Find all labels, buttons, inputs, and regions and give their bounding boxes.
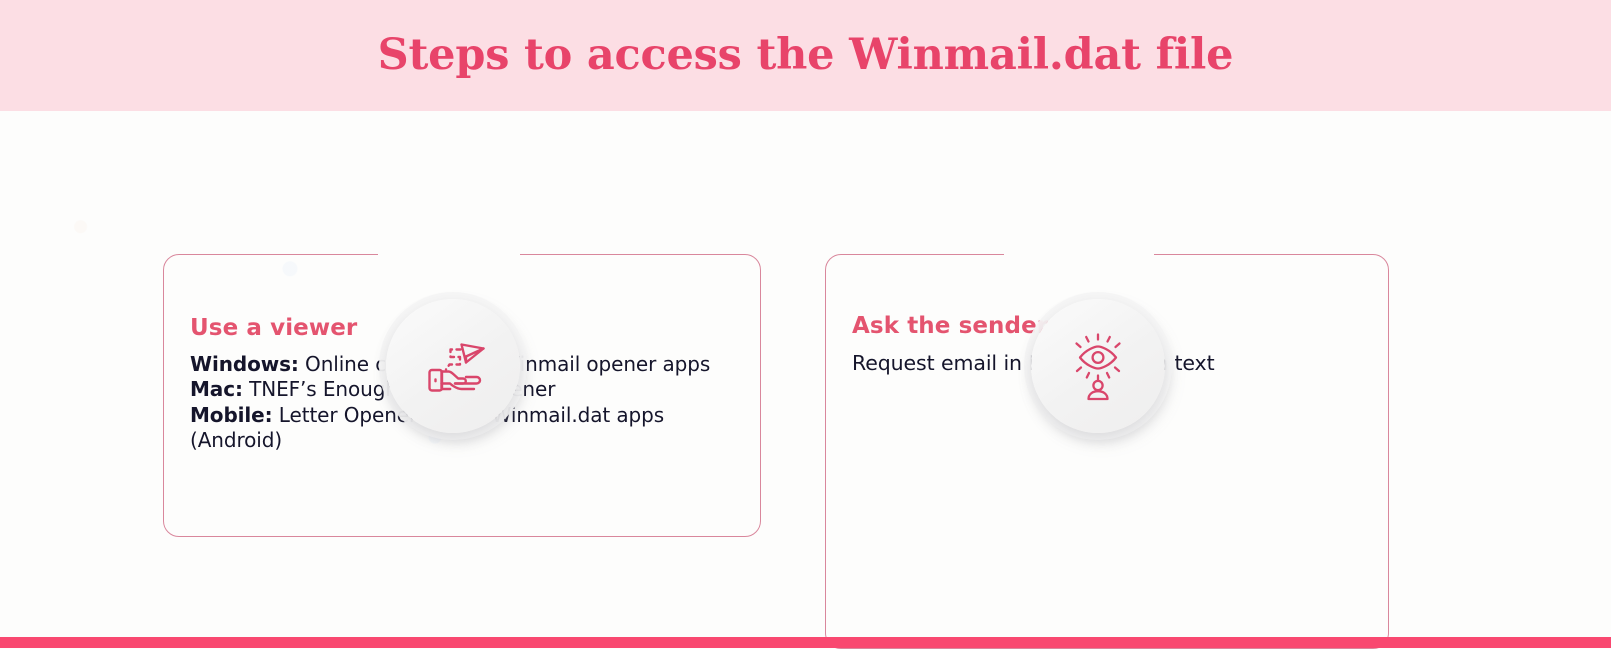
- page-title: Steps to access the Winmail.dat file: [378, 34, 1234, 77]
- step-line-label: Mobile:: [190, 403, 273, 427]
- steps-area: Use a viewer Windows: Online converters …: [0, 111, 1611, 637]
- hand-paper-plane-icon: [414, 327, 492, 405]
- bottom-accent-bar: [0, 637, 1611, 648]
- header-band: Steps to access the Winmail.dat file: [0, 0, 1611, 111]
- card-notch: [1004, 250, 1154, 260]
- card-notch: [378, 250, 520, 260]
- step-line-label: Windows:: [190, 352, 299, 376]
- step-icon-circle: [1031, 299, 1165, 433]
- infographic-root: Steps to access the Winmail.dat file Use…: [0, 0, 1611, 648]
- eye-person-icon: [1061, 329, 1135, 403]
- step-line-label: Mac:: [190, 377, 243, 401]
- step-icon-circle: [386, 299, 520, 433]
